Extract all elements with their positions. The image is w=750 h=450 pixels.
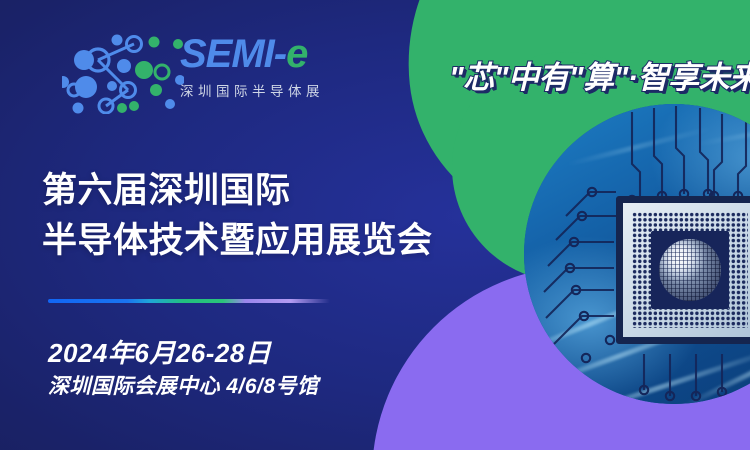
logo-dash-text: -	[274, 32, 286, 76]
logo-wordmark-text: SEMI-e	[180, 34, 324, 74]
chip-image-inner	[524, 104, 750, 404]
slogan-text: "芯"中有"算"·智享未来	[449, 52, 750, 97]
network-dots-logo-icon	[62, 30, 184, 114]
logo-e-text: e	[286, 32, 307, 76]
event-details: 2024年6月26-28日 深圳国际会展中心 4/6/8号馆	[48, 338, 319, 399]
page-title: 第六届深圳国际 半导体技术暨应用展览会	[42, 166, 433, 265]
halftone-globe-icon	[659, 239, 721, 301]
logo-subtitle: 深圳国际半导体展	[180, 80, 324, 100]
semi-e-logo[interactable]: SEMI-e 深圳国际半导体展	[62, 28, 352, 120]
logo-wordmark: SEMI-e 深圳国际半导体展	[180, 34, 324, 100]
logo-semi-text: SEMI	[180, 32, 274, 76]
gradient-divider	[48, 299, 330, 303]
headline-line-1: 第六届深圳国际	[42, 166, 433, 216]
chip-die-core	[651, 231, 729, 309]
chip-die	[616, 196, 750, 344]
headline-line-2: 半导体技术暨应用展览会	[42, 216, 433, 266]
semi-e-expo-banner: SEMI-e 深圳国际半导体展 "芯"中有"算"·智享未来 第六届深圳国际 半导…	[0, 0, 750, 450]
globe-mesh-overlay	[659, 239, 721, 301]
event-date: 2024年6月26-28日	[48, 338, 319, 369]
event-venue: 深圳国际会展中心 4/6/8号馆	[48, 374, 319, 399]
circuit-board-chip-image	[524, 104, 750, 404]
